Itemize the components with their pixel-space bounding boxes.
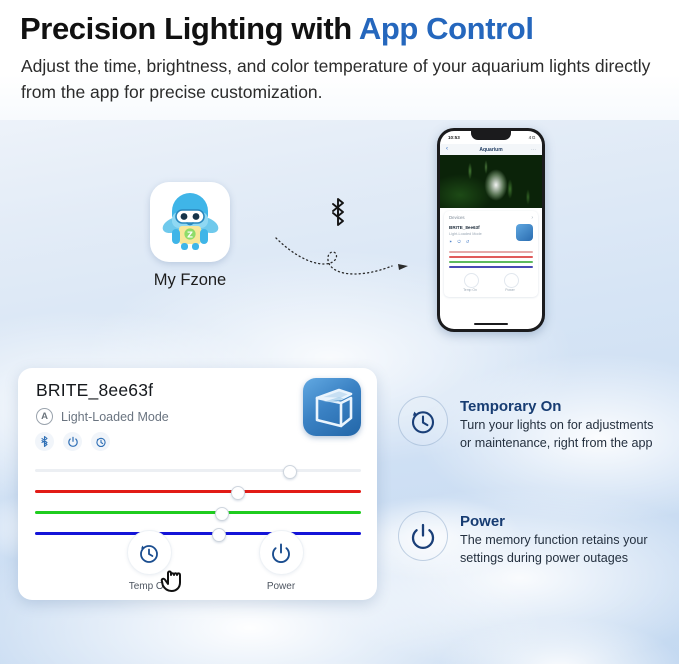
device-control-card: BRITE_8ee63f A Light-Loaded Mode [18,368,377,600]
feature-title: Power [460,513,648,531]
phone-screen: 10:53 4G ‹ Aquarium ··· Devices › BRITE_… [440,131,542,329]
status-time: 10:53 [448,135,460,140]
phone-slider-white[interactable] [449,251,533,253]
phone-temp-on-label: Temp On [459,288,481,292]
white-slider-track[interactable] [35,469,361,472]
phone-power-label: Power [499,288,521,292]
page-title-accent: App Control [359,11,534,46]
phone-notch [471,131,511,140]
phone-slider-green[interactable] [449,261,533,263]
power-icon [408,521,438,551]
feature-power: Power The memory function retains your s… [398,511,670,566]
aquarium-photo [440,155,542,208]
phone-nav-title: Aquarium [440,147,542,153]
white-brightness-slider[interactable] [35,460,361,481]
phone-slider-blue[interactable] [449,266,533,268]
red-channel-slider[interactable] [35,481,361,502]
phone-mockup: 10:53 4G ‹ Aquarium ··· Devices › BRITE_… [437,128,545,332]
aquarium-light-bar-icon [303,378,361,436]
power-icon [269,541,293,565]
green-slider-thumb[interactable] [215,507,229,521]
feature-temporary-on: Temporary On Turn your lights on for adj… [398,396,670,451]
page-title-plain: Precision Lighting with [20,11,359,46]
feature-desc-line1: The memory function retains your [460,532,648,549]
mode-row: A Light-Loaded Mode [36,408,169,425]
hand-pointer-icon [158,553,202,597]
auto-mode-badge: A [36,408,53,425]
app-icon-wrapper[interactable]: Z [150,182,230,262]
power-button[interactable]: Power [236,530,326,592]
phone-device-name: BRITE_8ee63f [449,225,480,230]
phone-status-icons: ✶ ⏻ ↺ [449,239,471,244]
feature-desc-line1: Turn your lights on for adjustments [460,417,653,434]
my-fzone-app-icon[interactable]: Z [150,182,230,262]
red-slider-track[interactable] [35,490,361,493]
power-circle[interactable] [259,530,304,575]
phone-device-mode: Light-Loaded Mode [449,232,482,236]
menu-icon[interactable]: ··· [531,147,536,153]
feature-icon-ring-power [398,511,448,561]
phone-device-card: Devices › BRITE_8ee63f Light-Loaded Mode… [444,211,538,297]
power-label: Power [236,581,326,592]
page-subtitle: Adjust the time, brightness, and color t… [21,53,673,105]
svg-text:Z: Z [187,230,193,239]
mode-label: Light-Loaded Mode [61,410,169,424]
bluetooth-icon [325,195,351,229]
promo-page: Precision Lighting with App Control Adju… [0,0,679,664]
phone-product-icon [516,224,533,241]
mascot-illustration: Z [150,182,230,262]
dotted-curved-arrow-icon [272,228,412,278]
status-indicators: 4G [529,135,536,140]
status-icon-row [35,432,110,451]
phone-slider-red[interactable] [449,256,533,258]
feature-text-temporary-on: Temporary On Turn your lights on for adj… [460,396,653,451]
phone-more-icon[interactable]: › [531,215,533,221]
device-name: BRITE_8ee63f [36,380,153,401]
phone-section-label: Devices [449,215,465,220]
feature-desc-line2: settings during power outages [460,550,648,567]
feature-title: Temporary On [460,398,653,416]
feature-icon-ring-temporary-on [398,396,448,446]
feature-text-power: Power The memory function retains your s… [460,511,648,566]
phone-home-indicator [474,323,508,326]
green-slider-track[interactable] [35,511,361,514]
app-label: My Fzone [110,271,270,290]
bluetooth-icon[interactable] [35,432,54,451]
timer-icon [408,406,438,436]
page-title: Precision Lighting with App Control [20,10,670,48]
green-channel-slider[interactable] [35,502,361,523]
power-icon[interactable] [63,432,82,451]
phone-temp-on-button[interactable] [464,273,479,288]
phone-power-button[interactable] [504,273,519,288]
feature-desc-line2: or maintenance, right from the app [460,435,653,452]
timer-icon[interactable] [91,432,110,451]
white-slider-thumb[interactable] [283,465,297,479]
red-slider-thumb[interactable] [231,486,245,500]
